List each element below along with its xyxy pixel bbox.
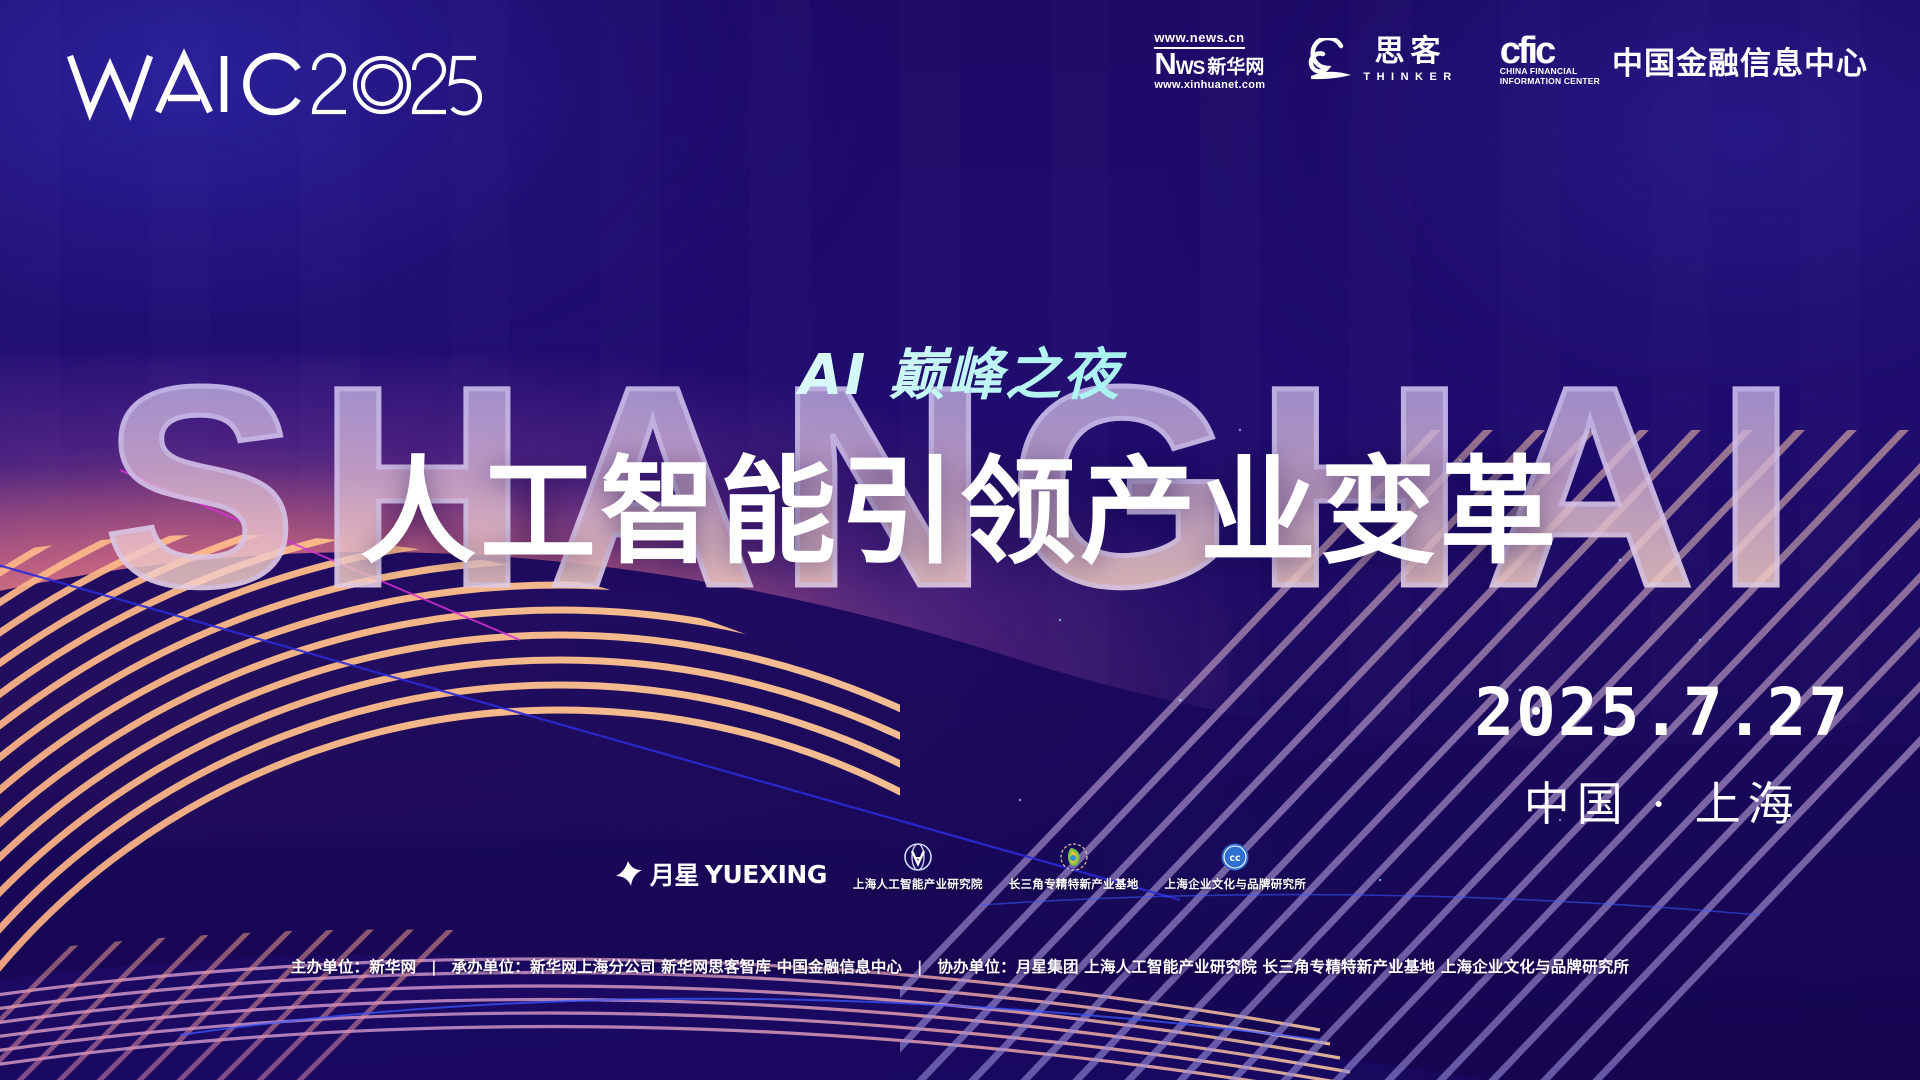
- cfic-name-cn: 中国金融信息中心: [1612, 38, 1868, 83]
- sponsor-logo-saii: 上海人工智能产业研究院: [853, 842, 983, 892]
- top-sponsor-logos: www.news.cn NWS 新华网 www.xinhuanet.com 思客…: [1154, 30, 1868, 91]
- svg-text:cc: cc: [1230, 853, 1241, 864]
- credits-separator-2: |: [908, 958, 932, 976]
- xinhuanet-mark: NWS: [1154, 51, 1204, 77]
- xinhuanet-url-bottom: www.xinhuanet.com: [1154, 79, 1265, 91]
- bottom-sponsor-logos: 月星 YUEXING 上海人工智能产业研究院 长三角专精特新产业基地: [0, 842, 1920, 892]
- event-location: 中国 · 上海: [1474, 768, 1850, 834]
- thinker-name-en: THINKER: [1363, 71, 1457, 83]
- saii-name: 上海人工智能产业研究院: [853, 876, 983, 892]
- yrd-base-icon: [1059, 842, 1089, 872]
- yuexing-brand-cn: 月星: [650, 856, 699, 892]
- event-date-location: 2025.7.27 中国 · 上海: [1474, 680, 1850, 834]
- waic-logo: [62, 42, 482, 124]
- thinker-name-cn: 思客: [1375, 37, 1447, 67]
- credits-separator-1: |: [422, 958, 446, 976]
- xinhuanet-mark-sub: WS: [1176, 58, 1205, 79]
- sponsor-logo-yrd-base: 长三角专精特新产业基地: [1009, 842, 1139, 892]
- sponsor-logo-xinhuanet: www.news.cn NWS 新华网 www.xinhuanet.com: [1154, 30, 1265, 91]
- cfic-subtitle-en-2: INFORMATION CENTER: [1500, 77, 1600, 87]
- event-subtitle: AI 巅峰之夜: [0, 330, 1920, 411]
- saii-globe-icon: [903, 842, 933, 872]
- waic-logo-icon: [62, 42, 482, 124]
- secbri-name: 上海企业文化与品牌研究所: [1165, 876, 1307, 892]
- sponsor-logo-secbri: cc 上海企业文化与品牌研究所: [1165, 842, 1307, 892]
- credits-coorganizer: 协办单位：月星集团 上海人工智能产业研究院 长三角专精特新产业基地 上海企业文化…: [937, 958, 1629, 976]
- yrd-base-name: 长三角专精特新产业基地: [1009, 876, 1139, 892]
- sponsor-logo-cfic: cfic CHINA FINANCIAL INFORMATION CENTER …: [1500, 35, 1868, 86]
- event-date: 2025.7.27: [1474, 680, 1850, 746]
- xinhuanet-name-cn: 新华网: [1207, 58, 1264, 77]
- secbri-seal-icon: cc: [1220, 842, 1250, 872]
- yuexing-star-icon: [614, 859, 644, 889]
- thinker-swirl-icon: [1307, 38, 1353, 82]
- poster-canvas: SHANGHAI: [0, 0, 1920, 1080]
- sponsor-logo-yuexing: 月星 YUEXING: [614, 856, 827, 892]
- credits-host: 主办单位：新华网: [291, 958, 417, 976]
- credits-bar: 主办单位：新华网 | 承办单位：新华网上海分公司 新华网思客智库 中国金融信息中…: [0, 955, 1920, 977]
- credits-organizer: 承办单位：新华网上海分公司 新华网思客智库 中国金融信息中心: [451, 958, 902, 976]
- cfic-mark: cfic: [1500, 35, 1600, 67]
- sponsor-logo-thinker: 思客 THINKER: [1307, 37, 1457, 83]
- yuexing-brand-en: YUEXING: [705, 860, 827, 889]
- event-headline: 人工智能引领产业变革: [0, 418, 1920, 586]
